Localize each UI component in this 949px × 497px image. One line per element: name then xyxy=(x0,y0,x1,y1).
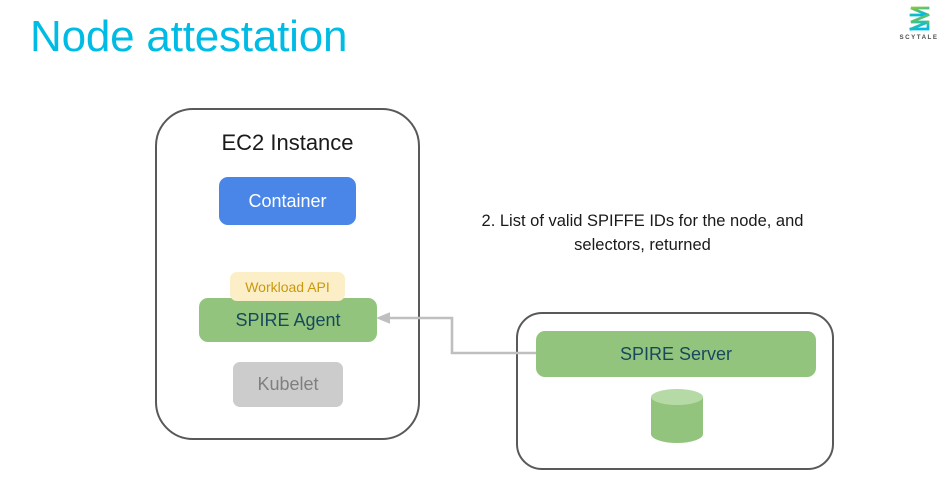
database-cylinder-top xyxy=(651,389,703,405)
connector-caption-line-1: 2. List of valid SPIFFE IDs for the node… xyxy=(455,209,830,233)
spire-server-component[interactable]: SPIRE Server xyxy=(536,331,816,377)
connector-caption-line-2: selectors, returned xyxy=(455,233,830,257)
slide-canvas: Node attestation SCYTALE EC2 Instance Co… xyxy=(0,0,949,497)
kubelet-component[interactable]: Kubelet xyxy=(233,362,343,407)
connector-caption: 2. List of valid SPIFFE IDs for the node… xyxy=(455,209,830,257)
page-title: Node attestation xyxy=(30,8,347,66)
ec2-instance-label: EC2 Instance xyxy=(157,130,418,156)
database-cylinder-icon xyxy=(651,389,703,451)
scytale-logo-mark xyxy=(905,4,933,34)
scytale-wordmark: SCYTALE xyxy=(896,34,942,41)
container-component[interactable]: Container xyxy=(219,177,356,225)
server-to-agent-arrow xyxy=(370,305,550,365)
workload-api-badge[interactable]: Workload API xyxy=(230,272,345,301)
spire-agent-component[interactable]: SPIRE Agent xyxy=(199,298,377,342)
scytale-logo: SCYTALE xyxy=(896,4,942,46)
